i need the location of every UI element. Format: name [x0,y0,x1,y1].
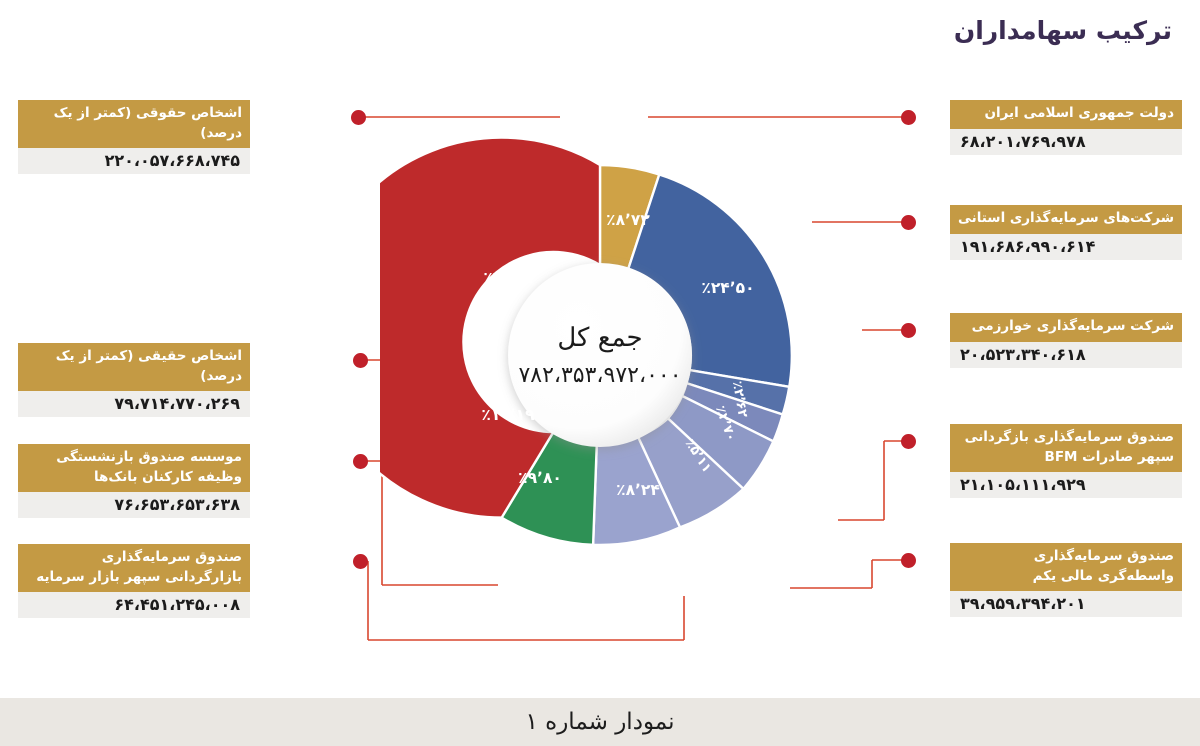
callout-bfm[interactable]: صندوق سرمایه‌گذاری بازگردانی سپهر صادرات… [950,424,1182,498]
slice-label-bank-pension: ٪۹٬۸۰ [518,469,562,487]
callout-provincial[interactable]: شرکت‌های سرمایه‌گذاری استانی ۱۹۱،۶۸۶،۹۹۰… [950,205,1182,260]
dot-yekom [901,553,916,568]
callout-provincial-value: ۱۹۱،۶۸۶،۹۹۰،۶۱۴ [950,234,1182,260]
total-label: جمع کل [380,323,820,353]
callout-provincial-name: شرکت‌های سرمایه‌گذاری استانی [950,205,1182,234]
dot-provincial [901,215,916,230]
callout-bank-pension-value: ۷۶،۶۵۳،۶۵۳،۶۳۸ [18,492,250,518]
donut-hole [508,263,692,447]
slice-label-sepehr-bazar: ٪۸٬۲۴ [616,481,660,499]
callout-individuals-name: اشخاص حقیقی (کمتر از یک درصد) [18,343,250,391]
callout-bank-pension[interactable]: موسسه صندوق بازنشستگی وظیفه کارکنان بانک… [18,444,250,518]
dot-individuals [353,353,368,368]
callout-legal-entities[interactable]: اشخاص حقوقی (کمتر از یک درصد) ۲۲۰،۰۵۷،۶۶… [18,100,250,174]
callout-kharazmi-name: شرکت سرمایه‌گذاری خوارزمی [950,313,1182,342]
callout-government[interactable]: دولت جمهوری اسلامی ایران ۶۸،۲۰۱،۷۶۹،۹۷۸ [950,100,1182,155]
dot-kharazmi [901,323,916,338]
callout-sepehr-bazar[interactable]: صندوق سرمایه‌گذاری بازارگردانی سپهر بازا… [18,544,250,618]
callout-kharazmi-value: ۲۰،۵۲۳،۳۴۰،۶۱۸ [950,342,1182,368]
dot-bfm [901,434,916,449]
callout-legal-entities-value: ۲۲۰،۰۵۷،۶۶۸،۷۴۵ [18,148,250,174]
callout-yekom-name: صندوق سرمایه‌گذاری واسطه‌گری مالی یکم [950,543,1182,591]
callout-individuals[interactable]: اشخاص حقیقی (کمتر از یک درصد) ۷۹،۷۱۴،۷۷۰… [18,343,250,417]
dot-sepehr-bazar [353,554,368,569]
footer-bar: نمودار شماره ۱ [0,698,1200,746]
page-title: ترکیب سهامداران [954,16,1172,45]
callout-bfm-value: ۲۱،۱۰۵،۱۱۱،۹۲۹ [950,472,1182,498]
callout-kharazmi[interactable]: شرکت سرمایه‌گذاری خوارزمی ۲۰،۵۲۳،۳۴۰،۶۱۸ [950,313,1182,368]
chart-page: ترکیب سهامداران [0,0,1200,746]
callout-sepehr-bazar-value: ۶۴،۴۵۱،۲۴۵،۰۰۸ [18,592,250,618]
callout-yekom[interactable]: صندوق سرمایه‌گذاری واسطه‌گری مالی یکم ۳۹… [950,543,1182,617]
slice-label-legal-entities: ٪۲۸٬۱۳ [483,269,537,287]
callout-individuals-value: ۷۹،۷۱۴،۷۷۰،۲۶۹ [18,391,250,417]
slice-label-provincial: ٪۲۴٬۵۰ [701,279,754,297]
donut-chart: ٪۸٬۷۲ ٪۲۴٬۵۰ ٪۲٬۶۲ ٪۲٬۷۰ ٪۵٬۱۱ ٪۸٬۲۴ ٪۹٬… [380,105,820,605]
callout-sepehr-bazar-name: صندوق سرمایه‌گذاری بازارگردانی سپهر بازا… [18,544,250,592]
dot-legal-entities [351,110,366,125]
callout-legal-entities-name: اشخاص حقوقی (کمتر از یک درصد) [18,100,250,148]
callout-bfm-name: صندوق سرمایه‌گذاری بازگردانی سپهر صادرات… [950,424,1182,472]
slice-label-government: ٪۸٬۷۲ [606,211,650,229]
total-value: ۷۸۲،۳۵۳،۹۷۲،۰۰۰ [380,363,820,388]
dot-government [901,110,916,125]
callout-yekom-value: ۳۹،۹۵۹،۳۹۴،۲۰۱ [950,591,1182,617]
callout-government-value: ۶۸،۲۰۱،۷۶۹،۹۷۸ [950,129,1182,155]
slice-label-individuals: ٪۱۰٬۱۹ [481,406,535,424]
dot-bank-pension [353,454,368,469]
callout-bank-pension-name: موسسه صندوق بازنشستگی وظیفه کارکنان بانک… [18,444,250,492]
chart-caption: نمودار شماره ۱ [525,709,674,735]
callout-government-name: دولت جمهوری اسلامی ایران [950,100,1182,129]
